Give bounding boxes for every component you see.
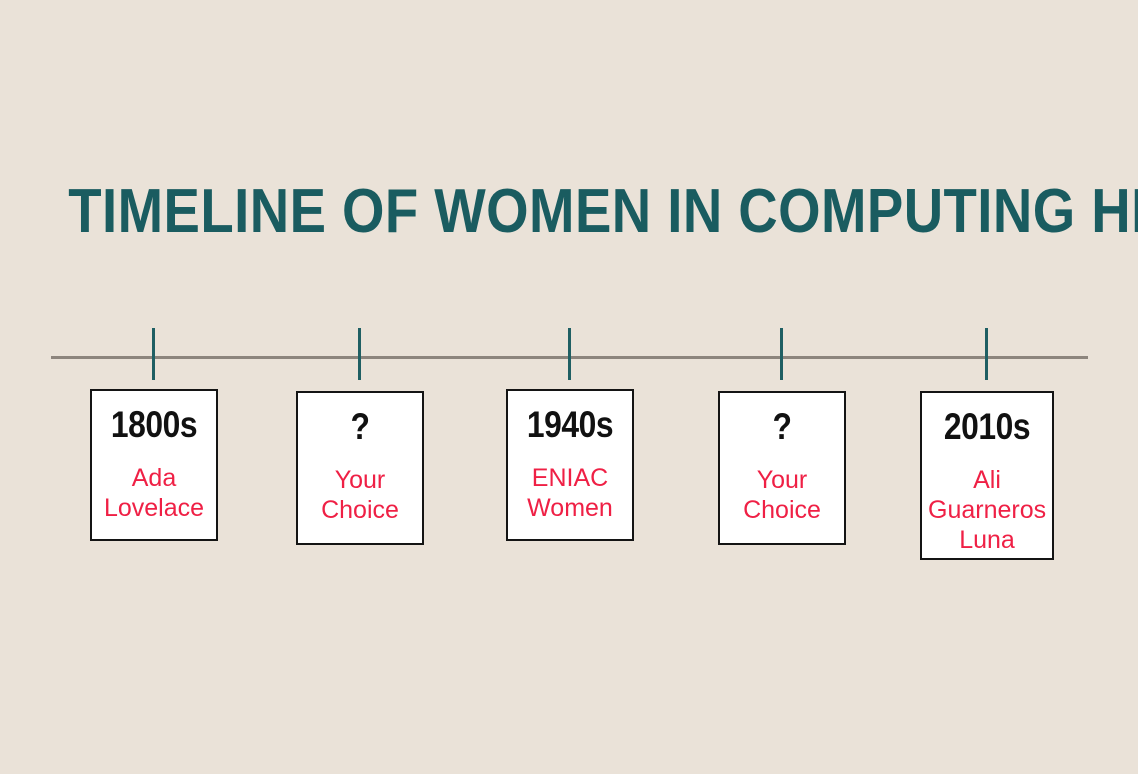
timeline-tick-1 [152, 328, 155, 380]
timeline-card-era: 1940s [517, 403, 624, 447]
page-title: TIMELINE OF WOMEN IN COMPUTING HISTORY [68, 176, 1069, 248]
timeline-card-era: 2010s [931, 405, 1043, 449]
timeline-card-name: Ada Lovelace [92, 463, 216, 523]
timeline-tick-2 [358, 328, 361, 380]
timeline-card-name: Ali Guarneros Luna [922, 465, 1052, 555]
timeline-card-4[interactable]: ? Your Choice [718, 391, 846, 545]
timeline-tick-4 [780, 328, 783, 380]
timeline-card-2[interactable]: ? Your Choice [296, 391, 424, 545]
timeline-card-era: ? [307, 405, 414, 449]
timeline-tick-5 [985, 328, 988, 380]
timeline-card-era: 1800s [101, 403, 208, 447]
timeline-card-name: Your Choice [720, 465, 844, 525]
timeline-card-name: Your Choice [298, 465, 422, 525]
timeline-card-5[interactable]: 2010s Ali Guarneros Luna [920, 391, 1054, 560]
timeline-tick-3 [568, 328, 571, 380]
timeline-card-name: ENIAC Women [508, 463, 632, 523]
timeline-card-1[interactable]: 1800s Ada Lovelace [90, 389, 218, 541]
timeline-card-3[interactable]: 1940s ENIAC Women [506, 389, 634, 541]
timeline-card-era: ? [729, 405, 836, 449]
